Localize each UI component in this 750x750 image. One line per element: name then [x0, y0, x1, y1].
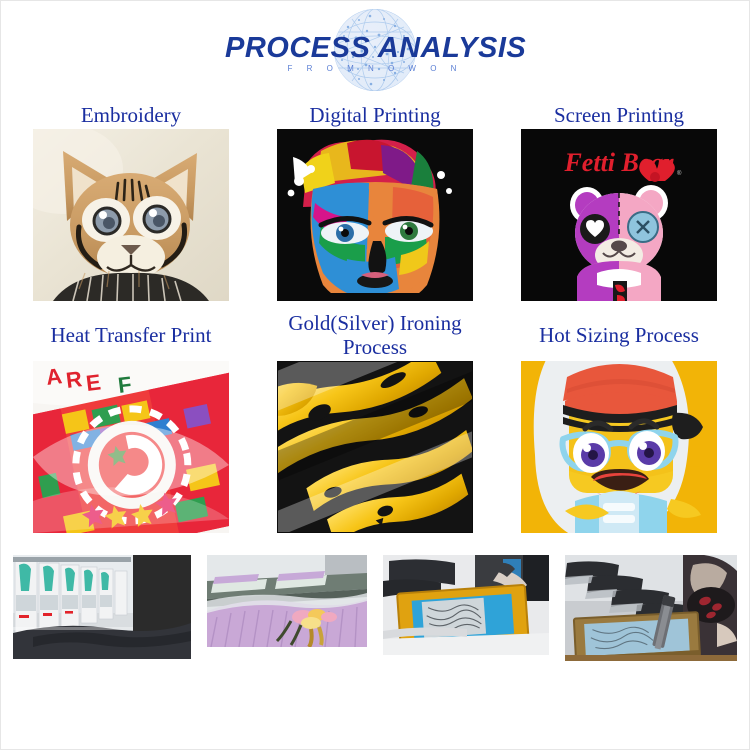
screen-printing-frame-photo[interactable] — [383, 555, 549, 655]
page-header: PROCESS ANALYSIS F R O M N O W O N — [1, 1, 749, 101]
process-label: Digital Printing — [309, 101, 440, 129]
process-label: Heat Transfer Print — [51, 309, 212, 361]
embroidery-machine-line-photo[interactable] — [13, 555, 191, 659]
process-card-embroidery[interactable]: Embroidery — [33, 101, 229, 301]
digital-printing-table-photo[interactable] — [207, 555, 367, 647]
brand-title: PROCESS ANALYSIS — [225, 32, 525, 65]
brand-subtitle: F R O M N O W O N — [225, 64, 525, 73]
process-grid: Embroidery — [1, 101, 749, 533]
process-row-1: Embroidery — [1, 101, 749, 301]
process-card-gold-ironing[interactable]: Gold(Silver) Ironing Process — [277, 309, 473, 533]
svg-text:R: R — [65, 366, 84, 393]
process-label: Screen Printing — [554, 101, 684, 129]
process-label: Hot Sizing Process — [539, 309, 699, 361]
process-card-digital-printing[interactable]: Digital Printing — [277, 101, 473, 301]
yellow-cartoon-character-photo[interactable] — [521, 361, 717, 533]
brand-logo: PROCESS ANALYSIS F R O M N O W O N — [225, 5, 525, 97]
screen-printing-line-photo[interactable] — [565, 555, 737, 661]
svg-text:E: E — [85, 369, 103, 396]
process-card-screen-printing[interactable]: Screen Printing Fetti Bear — [521, 101, 717, 301]
heat-transfer-gear-star-photo[interactable]: A R E F — [33, 361, 229, 533]
svg-text:A: A — [45, 363, 64, 390]
factory-photo-strip — [1, 555, 749, 661]
embroidered-cat-face-photo[interactable] — [33, 129, 229, 301]
process-analysis-page: PROCESS ANALYSIS F R O M N O W O N Embro… — [1, 1, 749, 749]
fetti-bear-tee-photo[interactable]: Fetti Bear — [521, 129, 717, 301]
process-label: Embroidery — [81, 101, 181, 129]
gold-foil-on-black-photo[interactable] — [277, 361, 473, 533]
process-card-hot-sizing[interactable]: Hot Sizing Process — [521, 309, 717, 533]
process-card-heat-transfer[interactable]: Heat Transfer Print A R — [33, 309, 229, 533]
process-label: Gold(Silver) Ironing Process — [277, 309, 473, 361]
svg-text:®: ® — [677, 170, 682, 177]
multicolor-painted-face-photo[interactable] — [277, 129, 473, 301]
process-row-2: Heat Transfer Print A R — [1, 309, 749, 533]
